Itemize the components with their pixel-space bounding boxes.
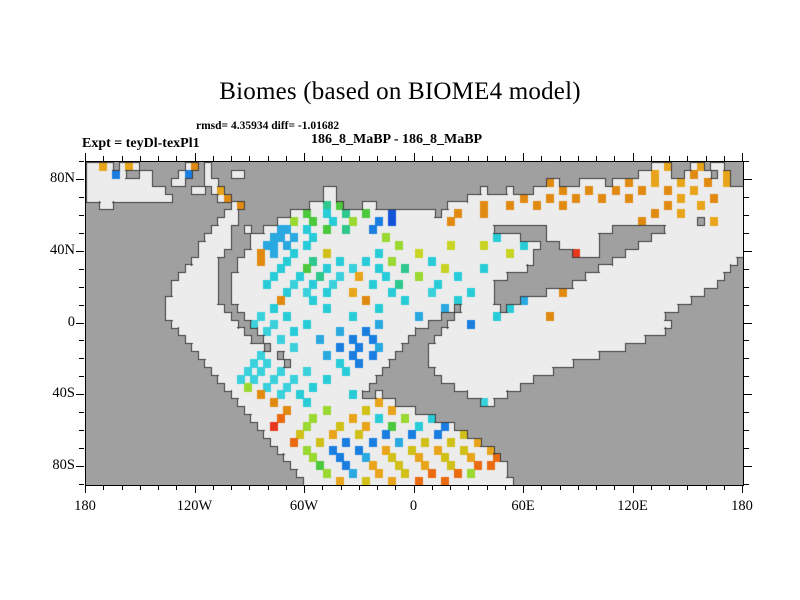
x-tick-minor (450, 485, 451, 490)
x-tick-minor-top (213, 156, 214, 161)
y-tick-minor (79, 448, 84, 449)
y-tick-minor (79, 358, 84, 359)
x-tick-minor (523, 485, 524, 493)
x-tick-minor (195, 485, 196, 493)
x-tick-minor (176, 485, 177, 490)
y-axis-tick-label: 80S (5, 457, 75, 474)
x-tick-minor-top (395, 156, 396, 161)
x-tick-minor-top (468, 156, 469, 161)
y-tick-minor (76, 179, 84, 180)
y-tick-minor (79, 197, 84, 198)
x-tick-minor-top (286, 156, 287, 161)
y-axis-tick-label: 0 (5, 314, 75, 331)
x-tick-minor-top (85, 153, 86, 161)
x-tick-minor (687, 485, 688, 490)
map-plot-area (85, 161, 744, 486)
y-tick-minor-right (744, 233, 749, 234)
y-tick-minor (79, 412, 84, 413)
y-tick-minor-right (744, 484, 749, 485)
y-axis-tick-label: 40S (5, 385, 75, 402)
y-axis-tick-label: 40N (5, 242, 75, 259)
biome-map-canvas (86, 162, 743, 485)
y-tick-minor (79, 161, 84, 162)
x-tick-minor-top (633, 153, 634, 161)
x-tick-minor (304, 485, 305, 493)
x-tick-minor-top (158, 156, 159, 161)
y-tick-minor-right (744, 305, 749, 306)
x-tick-minor-top (122, 156, 123, 161)
experiment-label: Expt = teyDl-texPl1 (82, 136, 200, 152)
y-tick-minor (76, 323, 84, 324)
x-tick-minor-top (414, 153, 415, 161)
x-tick-minor (286, 485, 287, 490)
x-tick-minor-top (505, 156, 506, 161)
x-axis-tick-label: 0 (374, 498, 454, 515)
x-tick-minor (633, 485, 634, 493)
y-tick-minor-right (744, 179, 752, 180)
x-tick-minor-top (487, 156, 488, 161)
x-tick-minor (487, 485, 488, 490)
x-tick-minor (468, 485, 469, 490)
y-tick-minor-right (744, 466, 752, 467)
y-tick-minor-right (744, 394, 752, 395)
x-tick-minor-top (742, 153, 743, 161)
x-tick-minor (377, 485, 378, 490)
x-tick-minor (614, 485, 615, 490)
y-tick-minor-right (744, 358, 749, 359)
x-tick-minor-top (304, 153, 305, 161)
x-axis-tick-label: 120W (155, 498, 235, 515)
x-tick-minor (122, 485, 123, 490)
stats-line: rmsd= 4.35934 diff= -1.01682 (196, 120, 339, 132)
x-axis-tick-label: 180 (45, 498, 125, 515)
x-tick-minor-top (140, 156, 141, 161)
x-tick-minor (669, 485, 670, 490)
x-tick-minor-top (432, 156, 433, 161)
x-tick-minor (341, 485, 342, 490)
case-pair-label: 186_8_MaBP - 186_8_MaBP (311, 132, 482, 148)
y-tick-minor-right (744, 161, 749, 162)
x-tick-minor (322, 485, 323, 490)
x-tick-minor (231, 485, 232, 490)
y-tick-minor (79, 269, 84, 270)
y-tick-minor-right (744, 430, 749, 431)
x-tick-minor (651, 485, 652, 490)
x-tick-minor (213, 485, 214, 490)
x-axis-tick-label: 120E (593, 498, 673, 515)
y-tick-minor-right (744, 323, 752, 324)
x-tick-minor (706, 485, 707, 490)
y-tick-minor (76, 466, 84, 467)
x-tick-minor-top (249, 156, 250, 161)
x-axis-tick-label: 60E (483, 498, 563, 515)
y-tick-minor-right (744, 340, 749, 341)
x-tick-minor (103, 485, 104, 490)
x-tick-minor-top (450, 156, 451, 161)
x-tick-minor (85, 485, 86, 493)
x-axis-tick-label: 60W (264, 498, 344, 515)
y-tick-minor-right (744, 251, 752, 252)
y-tick-minor-right (744, 269, 749, 270)
x-tick-minor (578, 485, 579, 490)
y-tick-minor-right (744, 412, 749, 413)
figure-page: Biomes (based on BIOME4 model) rmsd= 4.3… (0, 0, 800, 600)
y-tick-minor (79, 430, 84, 431)
y-tick-minor-right (744, 448, 749, 449)
y-tick-minor (79, 376, 84, 377)
y-tick-minor-right (744, 376, 749, 377)
x-tick-minor-top (103, 156, 104, 161)
x-tick-minor-top (231, 156, 232, 161)
x-tick-minor-top (669, 156, 670, 161)
x-tick-minor-top (578, 156, 579, 161)
y-tick-minor (79, 287, 84, 288)
x-tick-minor (395, 485, 396, 490)
x-tick-minor (140, 485, 141, 490)
x-tick-minor-top (268, 156, 269, 161)
x-tick-minor-top (651, 156, 652, 161)
y-axis-tick-label: 80N (5, 170, 75, 187)
y-tick-minor (76, 394, 84, 395)
x-tick-minor-top (706, 156, 707, 161)
y-tick-minor (79, 305, 84, 306)
x-tick-minor (414, 485, 415, 493)
x-tick-minor (158, 485, 159, 490)
x-tick-minor-top (596, 156, 597, 161)
x-tick-minor (596, 485, 597, 490)
x-axis-tick-label: 180 (702, 498, 782, 515)
y-tick-minor (79, 215, 84, 216)
x-tick-minor (541, 485, 542, 490)
x-tick-minor-top (341, 156, 342, 161)
x-tick-minor (359, 485, 360, 490)
x-tick-minor-top (377, 156, 378, 161)
y-tick-minor (79, 233, 84, 234)
page-title: Biomes (based on BIOME4 model) (0, 78, 800, 106)
y-tick-minor (76, 251, 84, 252)
x-tick-minor-top (176, 156, 177, 161)
x-tick-minor-top (359, 156, 360, 161)
x-tick-minor (742, 485, 743, 493)
x-tick-minor-top (195, 153, 196, 161)
x-tick-minor (505, 485, 506, 490)
x-tick-minor-top (724, 156, 725, 161)
x-tick-minor-top (560, 156, 561, 161)
x-tick-minor-top (541, 156, 542, 161)
y-tick-minor (79, 484, 84, 485)
y-tick-minor (79, 340, 84, 341)
x-tick-minor-top (322, 156, 323, 161)
x-tick-minor (560, 485, 561, 490)
x-tick-minor (432, 485, 433, 490)
x-tick-minor (268, 485, 269, 490)
y-tick-minor-right (744, 215, 749, 216)
x-tick-minor-top (687, 156, 688, 161)
x-tick-minor (724, 485, 725, 490)
x-tick-minor-top (614, 156, 615, 161)
x-tick-minor (249, 485, 250, 490)
x-tick-minor-top (523, 153, 524, 161)
y-tick-minor-right (744, 287, 749, 288)
y-tick-minor-right (744, 197, 749, 198)
